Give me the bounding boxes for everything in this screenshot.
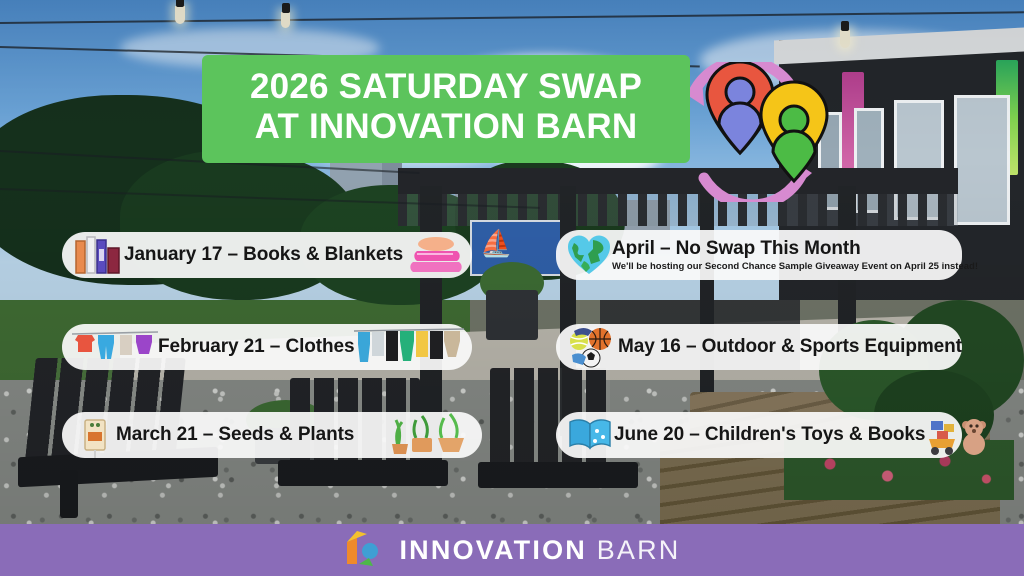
event-label: February 21 – Clothes bbox=[158, 336, 354, 358]
event-label: May 16 – Outdoor & Sports Equipment bbox=[618, 336, 962, 358]
event-row-may[interactable]: May 16 – Outdoor & Sports Equipment bbox=[556, 324, 962, 370]
event-label: June 20 – Children's Toys & Books bbox=[614, 424, 925, 446]
books-icon bbox=[72, 235, 124, 275]
event-label: April – No Swap This Month bbox=[612, 238, 978, 260]
brand-name-light bbox=[587, 535, 597, 565]
event-label-wrap: March 21 – Seeds & Plants bbox=[116, 424, 354, 446]
sports-balls-icon bbox=[566, 325, 618, 369]
event-row-february[interactable]: February 21 – Clothes bbox=[62, 324, 472, 370]
event-label-wrap: February 21 – Clothes bbox=[158, 336, 354, 358]
event-row-june[interactable]: June 20 – Children's Toys & Books bbox=[556, 412, 962, 458]
open-book-icon bbox=[566, 415, 614, 455]
potted-plants-icon bbox=[388, 412, 472, 458]
event-label-wrap: April – No Swap This Month We'll be host… bbox=[612, 238, 978, 272]
innovation-barn-box-logo bbox=[343, 530, 385, 570]
title-line-2: AT INNOVATION BARN bbox=[222, 107, 670, 147]
event-row-january[interactable]: January 17 – Books & Blankets bbox=[62, 232, 472, 278]
brand-wordmark: INNOVATION BARN bbox=[399, 535, 680, 566]
title-banner: 2026 SATURDAY SWAP AT INNOVATION BARN bbox=[202, 55, 690, 163]
event-sublabel: We'll be hosting our Second Chance Sampl… bbox=[612, 261, 978, 272]
event-label-wrap: May 16 – Outdoor & Sports Equipment bbox=[618, 336, 962, 358]
event-row-march[interactable]: March 21 – Seeds & Plants bbox=[62, 412, 482, 458]
event-row-april[interactable]: April – No Swap This Month We'll be host… bbox=[556, 230, 962, 280]
toys-teddy-bear-icon bbox=[925, 413, 991, 457]
event-label-wrap: June 20 – Children's Toys & Books bbox=[614, 424, 925, 446]
title-line-1: 2026 SATURDAY SWAP bbox=[222, 67, 670, 107]
event-label-wrap: January 17 – Books & Blankets bbox=[124, 244, 403, 266]
seed-packet-icon bbox=[72, 412, 116, 458]
clothesline-icon bbox=[72, 327, 158, 367]
globe-heart-icon bbox=[566, 233, 612, 277]
brand-name-light-word: BARN bbox=[597, 535, 681, 565]
event-label: January 17 – Books & Blankets bbox=[124, 244, 403, 266]
hanging-clothes-icon bbox=[354, 325, 464, 369]
poster-canvas: 2026 SATURDAY SWAP AT INNOVATION BARN Ja… bbox=[0, 0, 1024, 576]
folded-blankets-icon bbox=[403, 235, 465, 275]
footer-bar: INNOVATION BARN bbox=[0, 524, 1024, 576]
brand-name-bold: INNOVATION bbox=[399, 535, 587, 565]
event-label: March 21 – Seeds & Plants bbox=[116, 424, 354, 446]
